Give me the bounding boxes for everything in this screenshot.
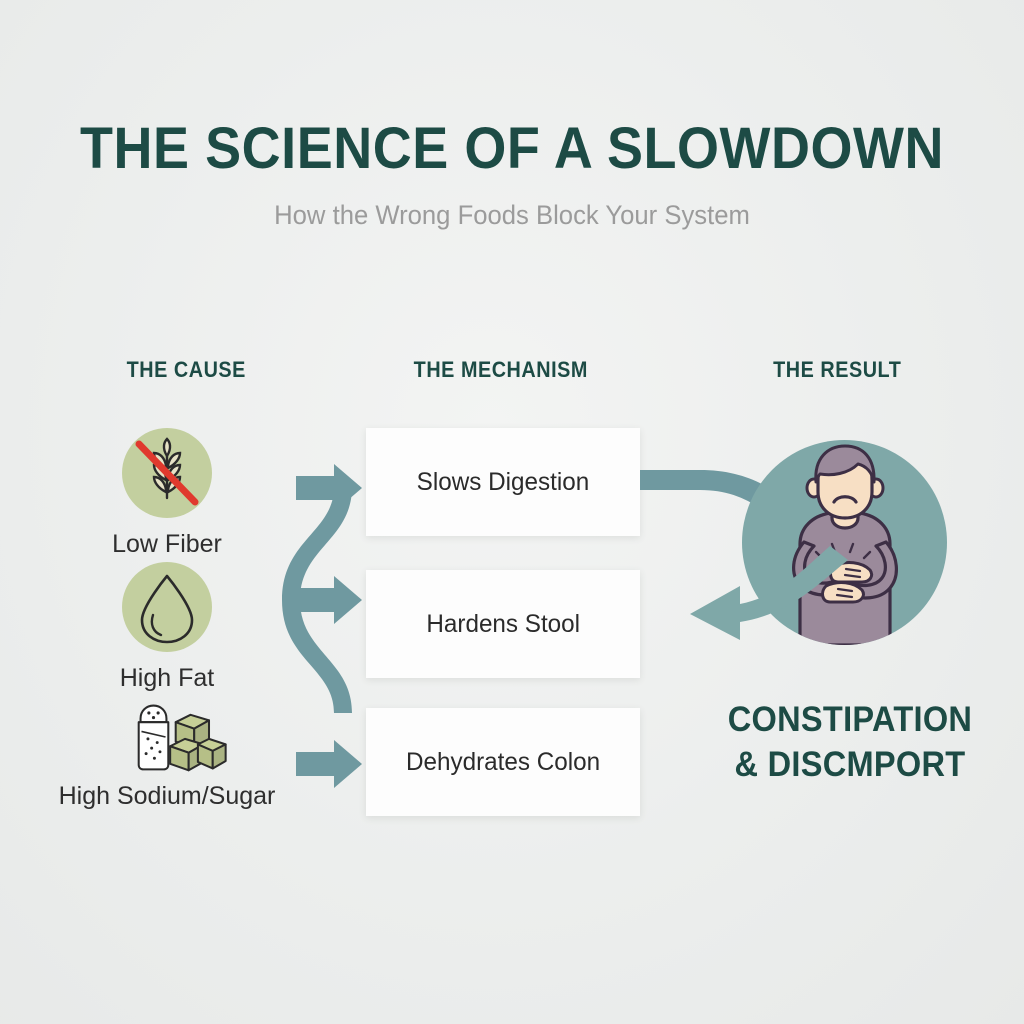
cause-label: High Sodium/Sugar <box>27 782 307 811</box>
result-caption: CONSTIPATION & DISCMPORT <box>701 698 999 788</box>
column-heading-result: THE RESULT <box>773 357 901 383</box>
cause-label: Low Fiber <box>27 530 307 559</box>
cause-label: High Fat <box>27 664 307 693</box>
column-heading-cause: THE CAUSE <box>127 357 246 383</box>
result-caption-line2: & DISCMPORT <box>701 743 999 788</box>
cause-item-low-fiber[interactable]: Low Fiber <box>27 428 307 559</box>
salt-shaker-sugar-cubes-icon <box>112 700 232 774</box>
wheat-crossed-out-icon <box>122 428 212 518</box>
result-illustration-circle <box>742 440 947 645</box>
mechanism-label: Hardens Stool <box>426 610 580 639</box>
column-heading-mechanism: THE MECHANISM <box>414 357 588 383</box>
cause-icon-background <box>112 700 222 774</box>
cause-item-high-fat[interactable]: High Fat <box>27 562 307 693</box>
cause-item-high-sodium-sugar[interactable]: High Sodium/Sugar <box>27 700 307 811</box>
person-holding-stomach-icon <box>742 440 947 645</box>
oil-droplet-icon <box>122 562 212 652</box>
result-caption-line1: CONSTIPATION <box>701 698 999 743</box>
mechanism-card-dehydrates-colon[interactable]: Dehydrates Colon <box>366 708 640 816</box>
mechanism-card-hardens-stool[interactable]: Hardens Stool <box>366 570 640 678</box>
cause-icon-background <box>122 562 212 652</box>
page-title: THE SCIENCE OF A SLOWDOWN <box>36 120 988 178</box>
mechanism-label: Slows Digestion <box>417 468 590 497</box>
mechanism-card-slows-digestion[interactable]: Slows Digestion <box>366 428 640 536</box>
page-subtitle: How the Wrong Foods Block Your System <box>26 200 999 231</box>
mechanism-label: Dehydrates Colon <box>406 748 600 777</box>
header: THE SCIENCE OF A SLOWDOWN How the Wrong … <box>0 120 1024 231</box>
cause-icon-background <box>122 428 212 518</box>
